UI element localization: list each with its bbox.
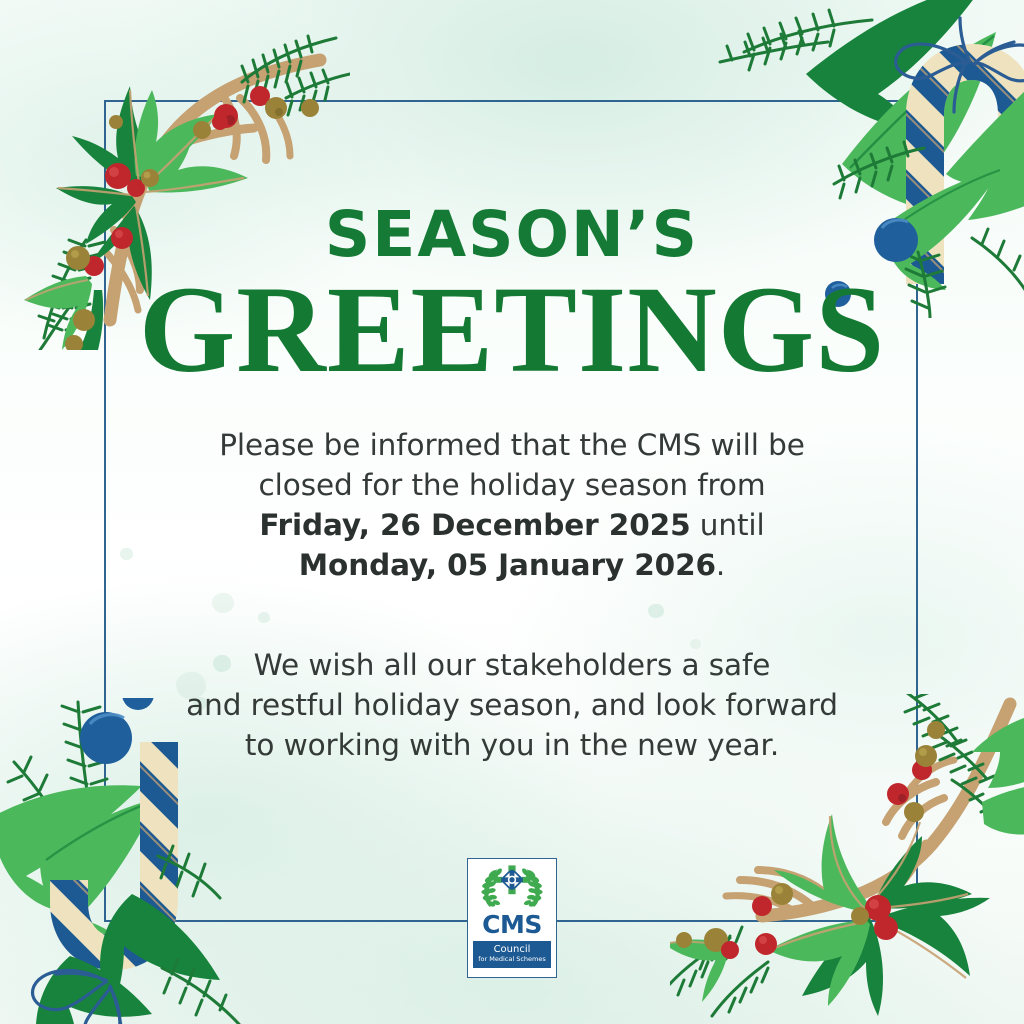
laurel-wreath-cross-emblem	[476, 864, 548, 910]
closure-start-date: Friday, 26 December 2025	[259, 508, 690, 542]
closure-line-4-tail: .	[716, 548, 725, 582]
wishes-line-3: to working with you in the new year.	[245, 728, 779, 762]
cms-tagline-council: Council	[473, 944, 551, 955]
wishes-line-1: We wish all our stakeholders a safe	[254, 648, 771, 682]
closure-line-2: closed for the holiday season from	[259, 468, 766, 502]
closure-line-3-tail: until	[691, 508, 765, 542]
cms-tagline-schemes: for Medical Schemes	[473, 955, 551, 964]
greeting-card: SEASON’S GREETINGS Please be informed th…	[0, 0, 1024, 1024]
cms-tagline-band: Council for Medical Schemes	[473, 941, 551, 968]
closure-end-date: Monday, 05 January 2026	[299, 548, 716, 582]
cms-wordmark: CMS	[482, 912, 542, 938]
headline-greetings: GREETINGS	[0, 268, 1024, 392]
headline-seasons: SEASON’S	[0, 203, 1024, 266]
wishes-paragraph: We wish all our stakeholders a safe and …	[0, 645, 1024, 765]
cms-logo: CMS Council for Medical Schemes	[467, 858, 557, 978]
closure-line-1: Please be informed that the CMS will be	[219, 428, 805, 462]
closure-notice-paragraph: Please be informed that the CMS will be …	[0, 425, 1024, 585]
wishes-line-2: and restful holiday season, and look for…	[186, 688, 838, 722]
